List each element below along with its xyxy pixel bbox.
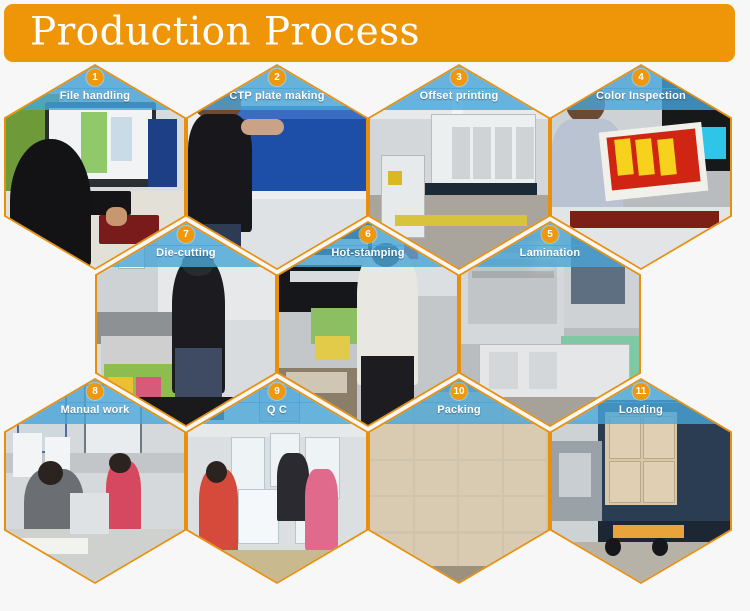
- step-number-badge: 7: [178, 226, 195, 243]
- step-number-badge: 9: [269, 383, 286, 400]
- step-label: File handling: [6, 90, 184, 102]
- step-number-badge: 4: [633, 69, 650, 86]
- process-honeycomb-grid: 1File handling2CTP plate making3Offset p…: [0, 62, 750, 611]
- step-number-badge: 1: [87, 69, 104, 86]
- step-number-badge: 8: [87, 383, 104, 400]
- page-title: Production Process: [30, 10, 420, 55]
- hexagon-content: 10Packing: [370, 380, 548, 582]
- step-label: Offset printing: [370, 90, 548, 102]
- hexagon-content: 6Hot-stamping: [279, 223, 457, 425]
- hexagon-content: 11Loading: [552, 380, 730, 582]
- hexagon-content: 4Color Inspection: [552, 66, 730, 268]
- hexagon-content: 8Manual work: [6, 380, 184, 582]
- step-number-badge: 6: [360, 226, 377, 243]
- step-number-badge: 3: [451, 69, 468, 86]
- hexagon-content: 9Q C: [188, 380, 366, 582]
- step-number-badge: 10: [451, 383, 468, 400]
- hexagon-content: 7Die-cutting: [97, 223, 275, 425]
- hexagon-content: 5Lamination: [461, 223, 639, 425]
- step-number-badge: 2: [269, 69, 286, 86]
- page-header-bar: Production Process: [4, 4, 735, 62]
- step-label: CTP plate making: [188, 90, 366, 102]
- hexagon-content: 2CTP plate making: [188, 66, 366, 268]
- step-number-badge: 5: [542, 226, 559, 243]
- step-number-badge: 11: [633, 383, 650, 400]
- hexagon-content: 3Offset printing: [370, 66, 548, 268]
- step-label: Color Inspection: [552, 90, 730, 102]
- hexagon-content: 1File handling: [6, 66, 184, 268]
